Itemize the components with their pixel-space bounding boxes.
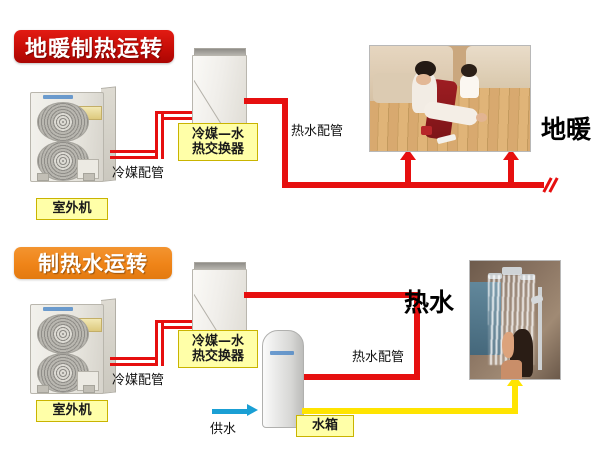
brand-logo-icon — [43, 307, 73, 311]
hot-water-supply-pipe-riser — [512, 385, 518, 414]
hot-water-supply-pipe-run — [302, 408, 518, 414]
shower-hot-water-photo — [469, 260, 561, 380]
refrigerant-pipe-lower-b — [110, 156, 158, 159]
outdoor-unit-foot — [83, 173, 95, 181]
hot-water-pipe-floor-run-heating — [282, 182, 544, 188]
callout-heat-exchanger-heating: 冷媒—水 热交换器 — [178, 123, 258, 161]
result-label-floor-heating: 地暖 — [541, 110, 591, 146]
photo-toy — [421, 126, 432, 135]
photo-person-shoulder — [501, 360, 523, 379]
label-refrigerant-pipe-heating: 冷媒配管 — [112, 162, 164, 181]
label-hot-water-pipe-heating: 热水配管 — [291, 120, 343, 139]
callout-line-1: 冷媒—水 — [192, 127, 244, 142]
refrigerant-pipe-lower-b-hw — [110, 363, 158, 366]
water-supply-arrow-icon — [247, 404, 258, 416]
outdoor-unit-heating — [30, 88, 116, 188]
photo-woman-face — [416, 74, 430, 85]
photo-shower-head-center — [502, 267, 522, 275]
refrigerant-pipe-lower-a — [110, 150, 158, 153]
refrigerant-pipe-riser-a — [155, 111, 158, 159]
label-hot-water-pipe-hotwater: 热水配管 — [352, 346, 404, 365]
hot-water-tank — [262, 330, 302, 426]
refrigerant-pipe-upper-a-hw — [155, 320, 197, 323]
outdoor-unit-body — [30, 92, 104, 182]
hot-water-tank-body — [262, 330, 304, 428]
callout-outdoor-unit-hotwater: 室外机 — [36, 400, 108, 422]
section-badge-hot-water: 制热水运转 — [14, 247, 172, 279]
callout-line-2: 热交换器 — [192, 349, 244, 364]
label-water-supply: 供水 — [210, 418, 236, 437]
outdoor-unit-foot — [37, 173, 49, 181]
label-refrigerant-pipe-hotwater: 冷媒配管 — [112, 369, 164, 388]
callout-water-tank: 水箱 — [296, 415, 354, 437]
living-room-floor-heating-photo — [369, 45, 531, 152]
floor-heating-riser-left — [405, 158, 411, 184]
outdoor-unit-hotwater — [30, 300, 116, 400]
result-label-hot-water: 热水 — [404, 283, 454, 319]
callout-line-2: 热交换器 — [192, 142, 244, 157]
photo-foot — [476, 113, 487, 121]
callout-outdoor-unit-heating: 室外机 — [36, 198, 108, 220]
outdoor-unit-foot — [37, 385, 49, 393]
outdoor-unit-foot — [83, 385, 95, 393]
floor-heating-riser-right — [508, 158, 514, 184]
refrigerant-pipe-lower-a-hw — [110, 357, 158, 360]
brand-logo-icon — [270, 351, 294, 355]
hot-water-pipe-drop-heating — [282, 98, 288, 188]
photo-person-face — [502, 332, 514, 358]
fan-grille-icon — [37, 314, 89, 354]
hvac-system-diagram: 地暖制热运转 室外机 冷媒配管 冷媒—水 热交换器 — [0, 0, 600, 449]
outdoor-unit-body — [30, 304, 104, 394]
callout-heat-exchanger-hotwater: 冷媒—水 热交换器 — [178, 330, 258, 368]
refrigerant-pipe-upper-a — [155, 111, 197, 114]
fan-grille-icon — [37, 102, 89, 142]
photo-child-body — [460, 75, 479, 98]
section-badge-floor-heating: 地暖制热运转 — [14, 30, 174, 63]
water-supply-line — [212, 409, 248, 414]
hot-water-pipe-top-hotwater — [244, 292, 420, 298]
brand-logo-icon — [43, 95, 73, 99]
refrigerant-pipe-riser-a-hw — [155, 320, 158, 366]
hot-water-pipe-tank-return — [296, 374, 420, 380]
callout-line-1: 冷媒—水 — [192, 334, 244, 349]
